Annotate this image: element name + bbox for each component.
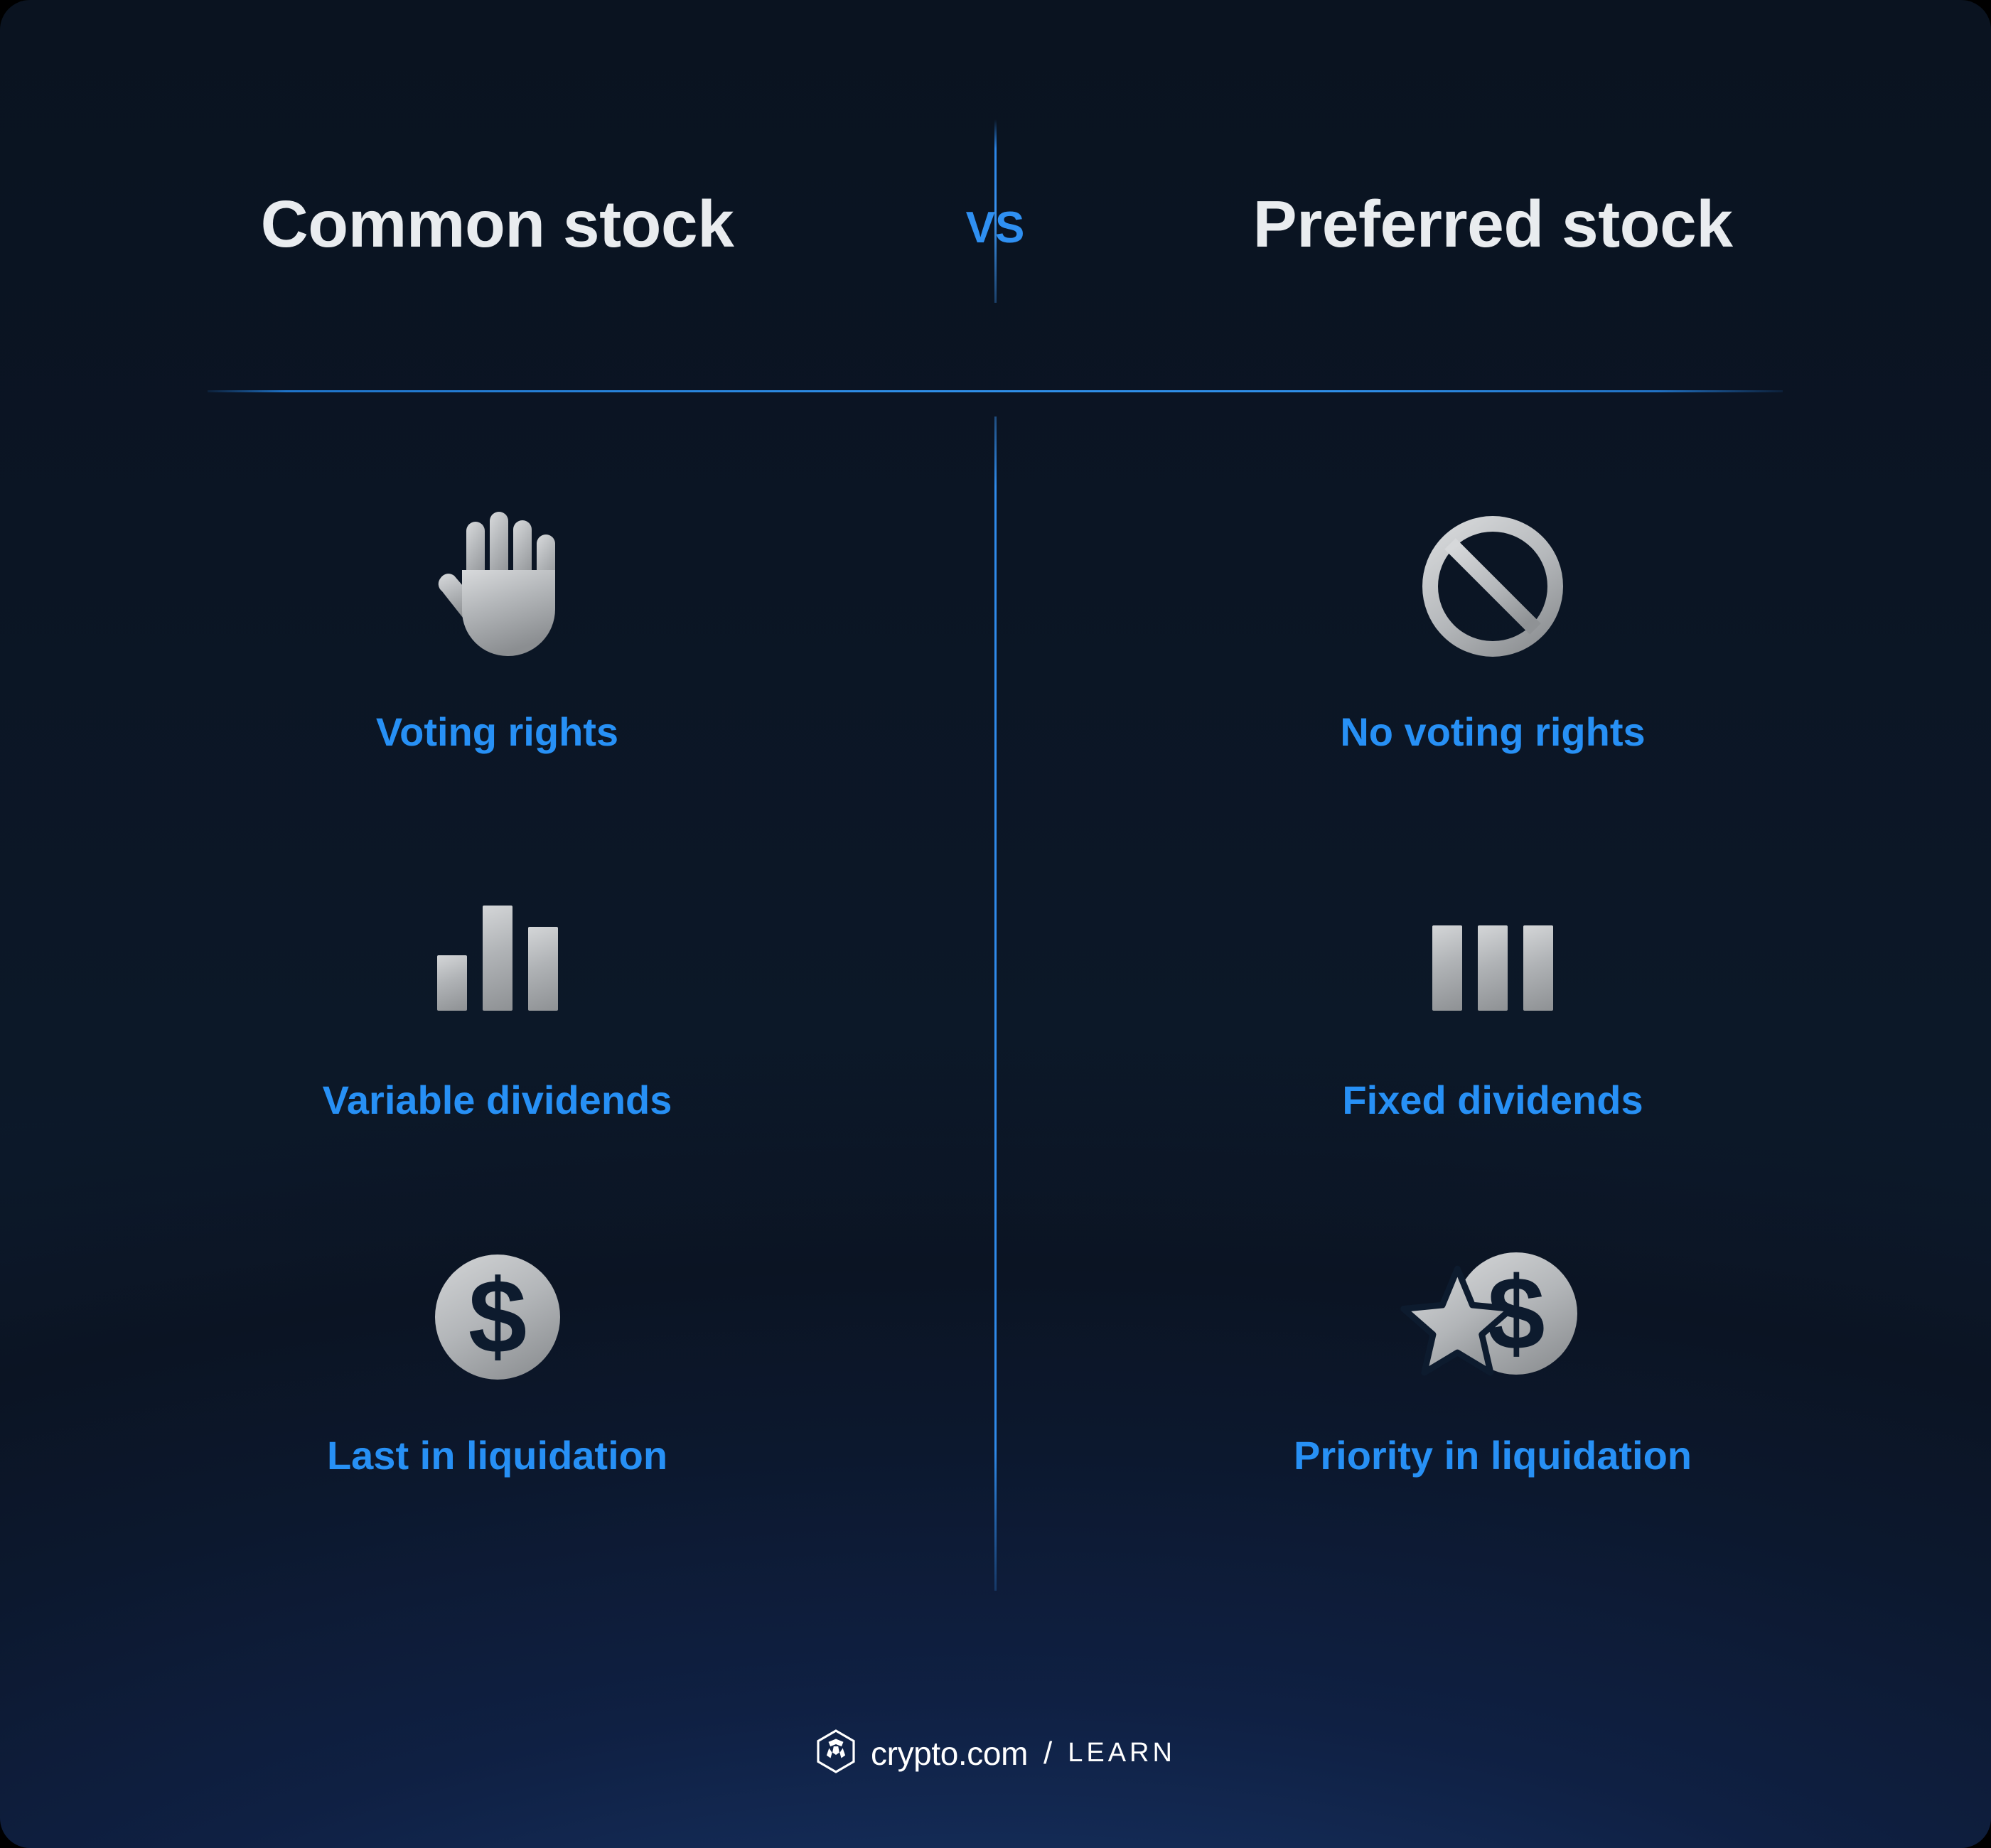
feature-label: Voting rights	[376, 712, 618, 752]
brand-section: LEARN	[1068, 1738, 1176, 1768]
bar-2	[483, 906, 512, 1011]
feature-last-in-liquidation: $ Last in liquidation	[0, 1235, 994, 1476]
feature-fixed-dividends: Fixed dividends	[994, 876, 1991, 1120]
crypto-com-hexagon-logo-icon	[815, 1729, 857, 1778]
brand-separator: /	[1043, 1736, 1052, 1771]
feature-label: Variable dividends	[323, 1080, 672, 1120]
feature-label: Fixed dividends	[1342, 1080, 1643, 1120]
variable-bar-chart-icon	[391, 876, 604, 1025]
bar-1	[1432, 925, 1462, 1011]
feature-variable-dividends: Variable dividends	[0, 876, 994, 1120]
bar-3	[1523, 925, 1553, 1011]
prohibition-icon	[1386, 505, 1599, 668]
feature-label: No voting rights	[1340, 712, 1645, 752]
column-common-stock: Voting rights Variable dividends	[0, 0, 994, 1848]
footer-branding: crypto.com / LEARN	[0, 1729, 1991, 1778]
feature-no-voting-rights: No voting rights	[994, 505, 1991, 752]
bar-2	[1478, 925, 1508, 1011]
bar-3	[528, 927, 558, 1011]
feature-voting-rights: Voting rights	[0, 505, 994, 752]
feature-priority-in-liquidation: $ Priority in liquidation	[994, 1235, 1991, 1476]
fixed-bar-chart-icon	[1386, 876, 1599, 1025]
star-dollar-coin-icon: $	[1386, 1235, 1599, 1399]
feature-label: Priority in liquidation	[1294, 1436, 1692, 1476]
raised-hand-icon	[391, 505, 604, 668]
feature-label: Last in liquidation	[327, 1436, 667, 1476]
column-preferred-stock: No voting rights Fixed dividends	[994, 0, 1991, 1848]
dollar-coin-icon: $	[391, 1235, 604, 1399]
infographic-card: Common stock VS Preferred stock	[0, 0, 1991, 1848]
brand-name: crypto.com	[871, 1734, 1028, 1773]
bar-1	[437, 955, 467, 1011]
svg-text:$: $	[468, 1258, 526, 1375]
